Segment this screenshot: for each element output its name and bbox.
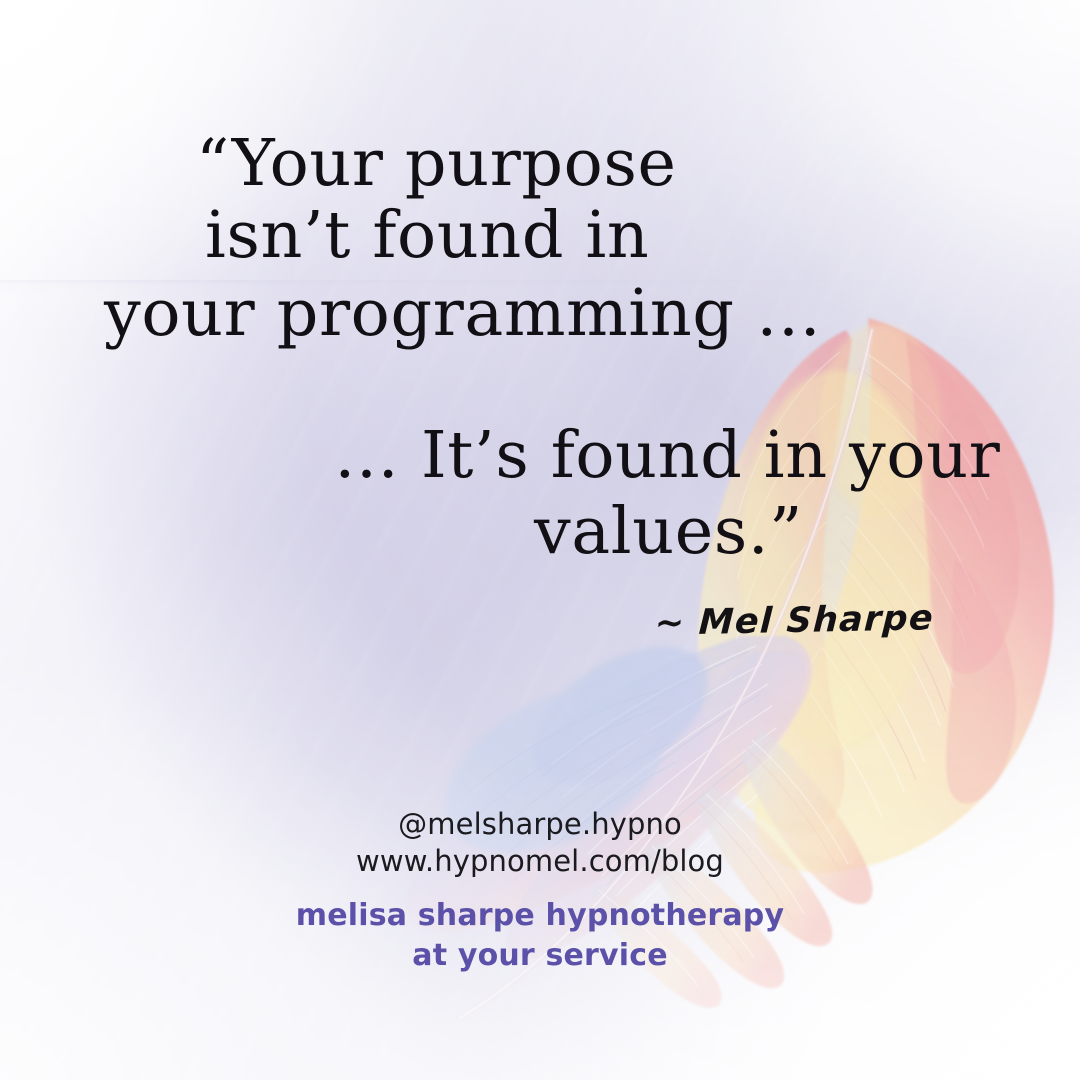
- brand-tagline: at your service: [0, 936, 1080, 976]
- social-handle[interactable]: @melsharpe.hypno: [0, 806, 1080, 843]
- quote-line-5: values.”: [534, 499, 803, 564]
- quote-line-4: … It’s found in your: [334, 423, 1000, 488]
- brand-name: melisa sharpe hypnotherapy: [0, 896, 1080, 936]
- quote-line-2: isn’t found in: [205, 203, 649, 268]
- quote-graphic-canvas: “Your purpose isn’t found in your progra…: [0, 0, 1080, 1080]
- website-url[interactable]: www.hypnomel.com/blog: [0, 843, 1080, 880]
- footer-brand-block: melisa sharpe hypnotherapy at your servi…: [0, 896, 1080, 976]
- quote-attribution: ~ Mel Sharpe: [654, 598, 935, 643]
- quote-line-1: “Your purpose: [196, 131, 677, 196]
- quote-line-3: your programming …: [104, 281, 822, 346]
- footer-contact-block: @melsharpe.hypno www.hypnomel.com/blog: [0, 806, 1080, 880]
